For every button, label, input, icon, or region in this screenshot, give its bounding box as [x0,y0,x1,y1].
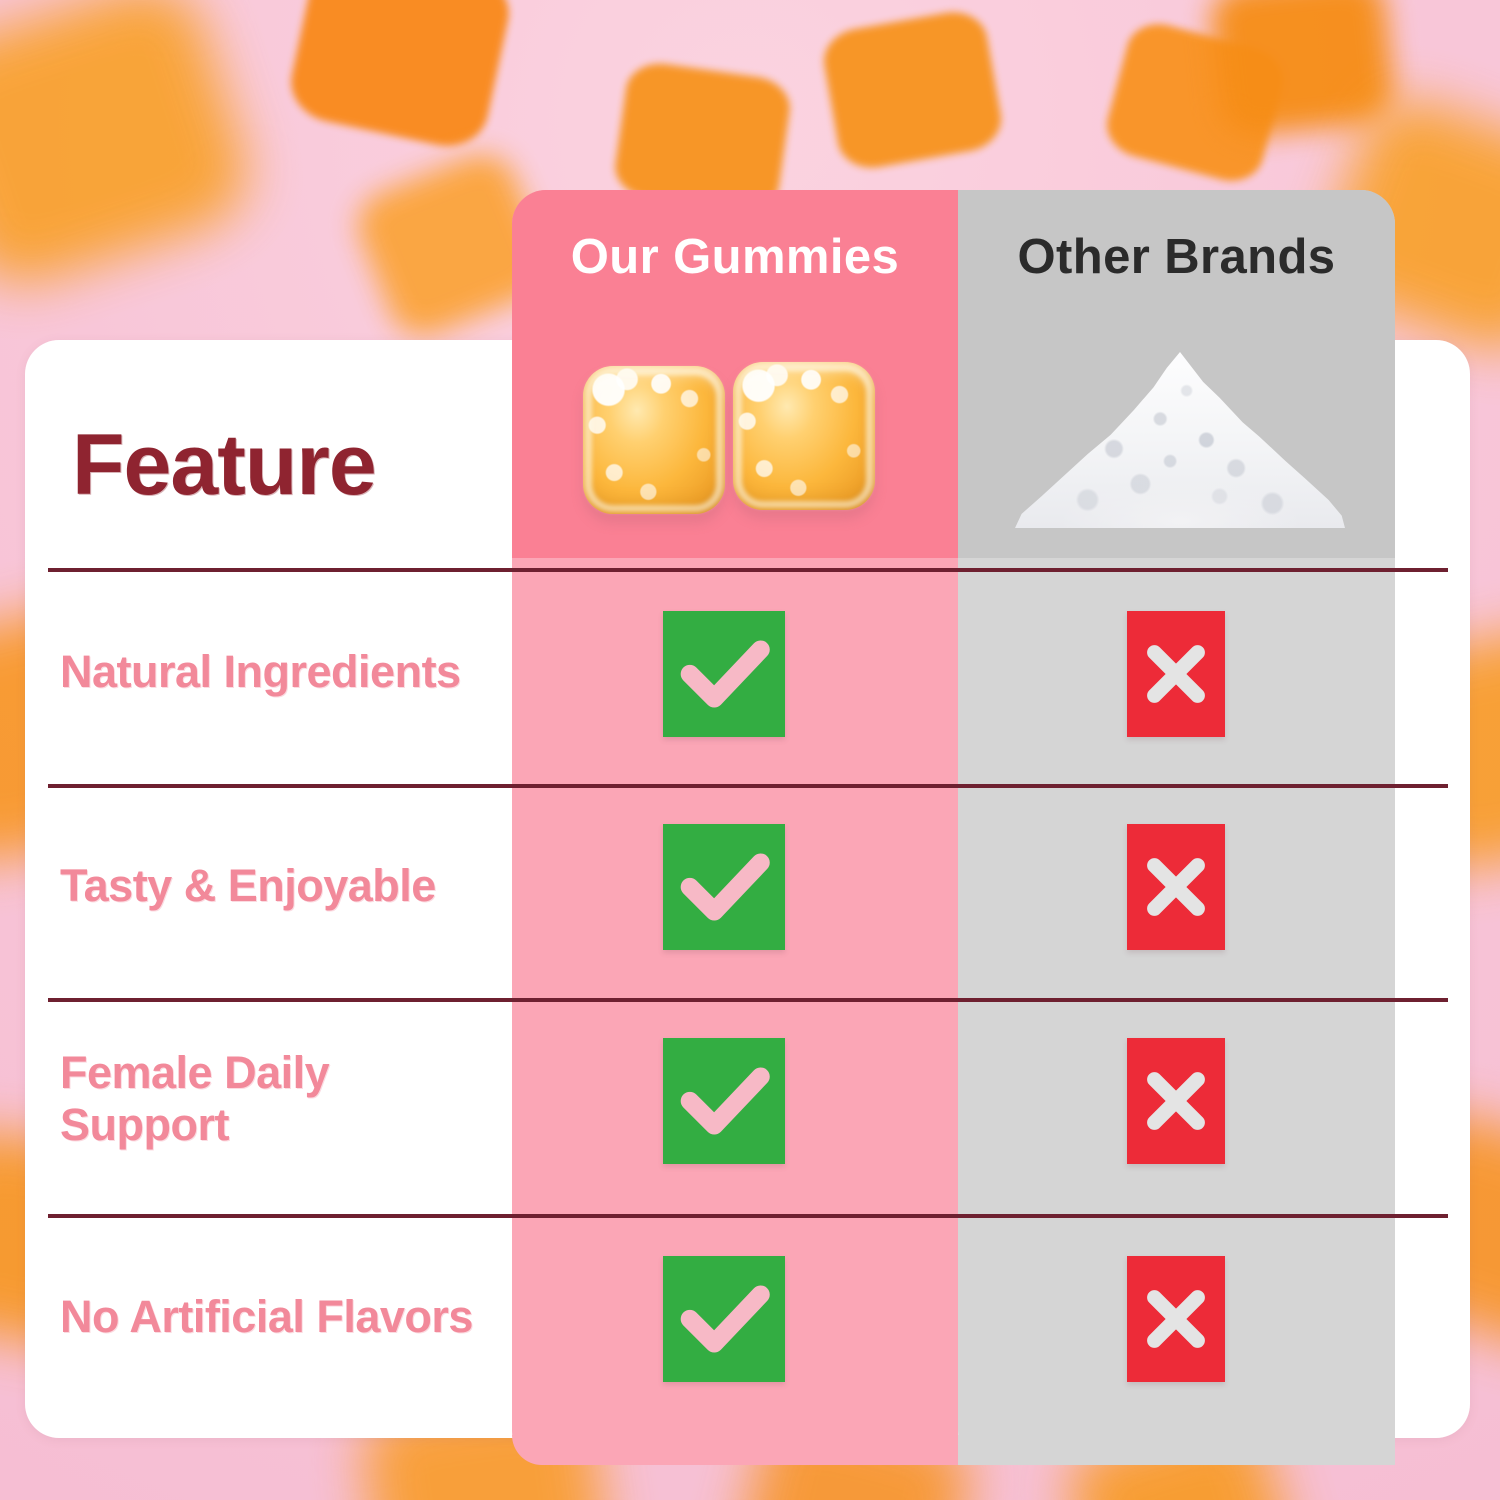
cross-icon [1127,1256,1225,1382]
our-gummies-title: Our Gummies [512,222,958,292]
page-title: Feature [72,410,492,520]
cross-icon [1127,1038,1225,1164]
white-powder-pile-image [1010,336,1350,536]
other-brands-title: Other Brands [958,222,1395,292]
row-label-no-artificial-flavors: No Artificial Flavors [60,1282,500,1352]
row-label-natural-ingredients: Natural Ingredients [60,637,500,707]
check-icon [663,1038,785,1164]
row-label-female-daily-support: Female Daily Support [60,1064,500,1134]
check-icon [663,611,785,737]
gummy-cube [733,362,875,510]
row-divider [48,1214,1448,1218]
check-icon [663,1256,785,1382]
check-icon [663,824,785,950]
row-label-tasty-enjoyable: Tasty & Enjoyable [60,851,500,921]
cross-icon [1127,824,1225,950]
powder-pile [1015,352,1345,528]
row-divider [48,784,1448,788]
comparison-table: Our Gummies Other Brands Feature Natural… [0,0,1500,1500]
row-divider [48,568,1448,572]
row-divider [48,998,1448,1002]
cross-icon [1127,611,1225,737]
gummy-cube [583,366,725,514]
orange-gummies-image [575,362,905,532]
